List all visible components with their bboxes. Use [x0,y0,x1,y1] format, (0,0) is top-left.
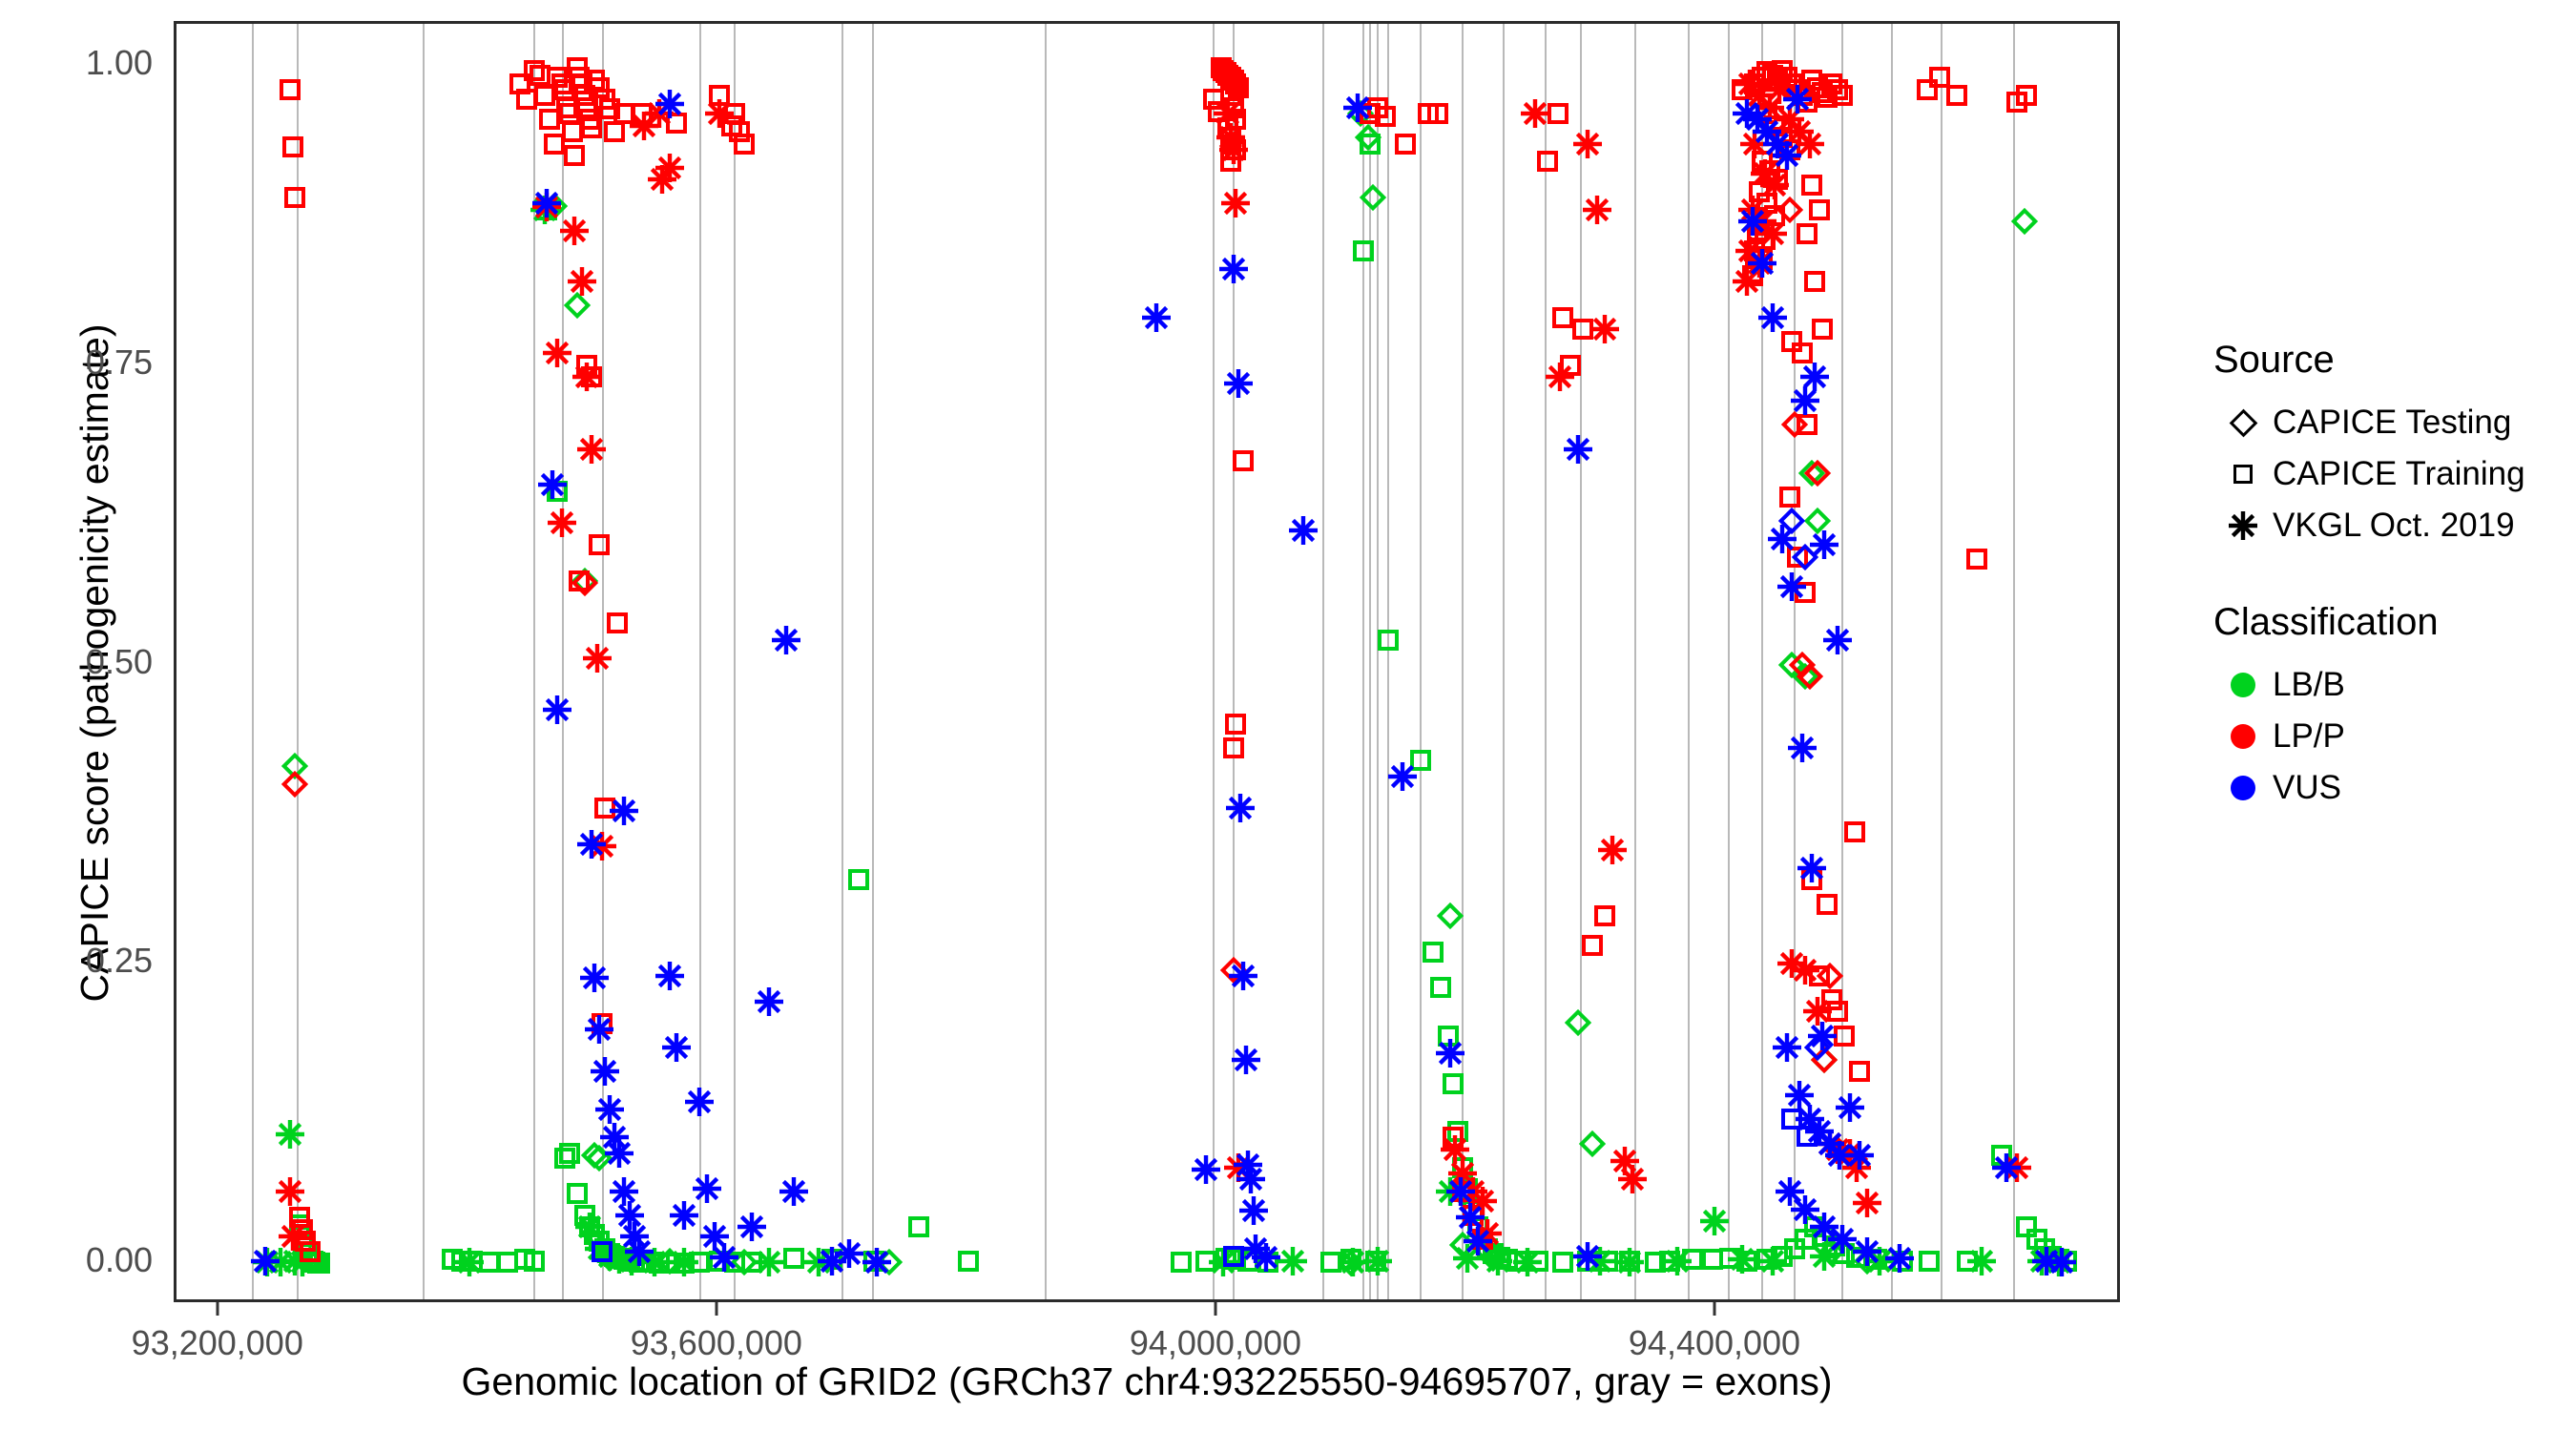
square-marker-icon [1804,271,1825,292]
diamond-marker-icon [655,1247,682,1274]
asterisk-marker-icon [276,1177,304,1206]
y-tick-label: 0.25 [38,941,153,981]
square-marker-icon [554,79,575,100]
square-marker-icon [1797,414,1818,435]
diamond-marker-icon [1803,508,1830,534]
asterisk-marker-icon [1810,1213,1839,1241]
diamond-marker-icon [1579,1130,1606,1156]
asterisk-marker-icon [1740,130,1769,158]
asterisk-marker-icon [1733,267,1761,296]
square-marker-icon [1812,319,1833,340]
square-marker-icon [1560,355,1581,376]
square-marker-icon [607,612,628,633]
exon-line [841,24,843,1299]
asterisk-marker-icon [1586,1247,1614,1275]
asterisk-marker-icon [1853,1237,1881,1266]
x-tick-label: 93,200,000 [132,1323,303,1363]
asterisk-marker-icon [288,1248,317,1276]
square-marker-icon [1779,139,1800,160]
square-marker-icon [509,73,530,94]
square-marker-icon [649,1253,670,1274]
square-marker-icon [581,117,602,138]
square-marker-icon [1395,134,1416,155]
exon-line [1213,24,1215,1299]
asterisk-marker-icon [1615,1248,1644,1276]
square-marker-icon [284,187,305,208]
asterisk-marker-icon [583,644,612,673]
square-marker-icon [1919,1251,1940,1272]
asterisk-marker-icon [1763,130,1792,158]
asterisk-marker-icon [617,1247,646,1275]
square-marker-icon [604,1246,625,1267]
square-marker-icon [1827,79,1848,100]
asterisk-marker-icon [1785,117,1814,146]
square-marker-icon [1472,1229,1493,1250]
square-marker-icon [1736,1251,1757,1272]
y-tick-label: 1.00 [38,43,153,83]
square-marker-icon [2006,92,2027,113]
square-marker-icon [1225,139,1246,160]
square-marker-icon [1572,319,1593,340]
asterisk-marker-icon [1513,1248,1542,1276]
square-marker-icon [297,1243,318,1264]
square-marker-icon [1821,73,1842,94]
square-marker-icon [1844,821,1865,842]
square-marker-icon [1483,1243,1504,1264]
asterisk-marker-icon [1823,1135,1852,1164]
square-marker-icon [1208,101,1229,122]
asterisk-marker-icon [737,1213,766,1241]
diamond-marker-icon [564,292,591,319]
asterisk-icon [2213,511,2273,540]
square-marker-icon [741,1252,762,1273]
asterisk-marker-icon [1777,572,1806,601]
square-marker-icon [1477,1238,1498,1259]
asterisk-marker-icon [532,189,561,218]
legend-item-label: LB/B [2273,666,2345,704]
square-marker-icon [547,481,568,502]
asterisk-marker-icon [543,695,571,724]
diamond-marker-icon [1789,651,1816,677]
legend-item-source[interactable]: CAPICE Training [2213,448,2566,500]
asterisk-marker-icon [1453,1244,1482,1273]
diamond-marker-icon [1803,460,1830,487]
square-marker-icon [589,77,610,98]
square-marker-icon [1747,220,1768,241]
asterisk-marker-icon [1573,1242,1602,1271]
asterisk-marker-icon [1796,1105,1824,1133]
square-marker-icon [451,1251,472,1272]
asterisk-marker-icon [610,1177,638,1206]
asterisk-marker-icon [1836,1093,1864,1122]
x-tick-label: 94,000,000 [1130,1323,1301,1363]
asterisk-marker-icon [655,962,684,990]
square-marker-icon [1817,894,1838,915]
square-marker-icon [289,1207,310,1228]
exon-line [1387,24,1389,1299]
square-marker-icon [1619,1251,1640,1272]
asterisk-marker-icon [568,267,596,296]
square-marker-icon [1552,307,1573,328]
exon-line [1941,24,1942,1299]
diamond-marker-icon [571,570,597,596]
asterisk-marker-icon [1842,1153,1871,1182]
asterisk-marker-icon [1224,1153,1253,1182]
asterisk-marker-icon [1728,1245,1756,1274]
asterisk-marker-icon [585,1015,613,1044]
asterisk-marker-icon [615,1201,644,1230]
asterisk-marker-icon [1765,75,1794,104]
square-marker-icon [1827,1001,1848,1022]
square-marker-icon [567,57,588,78]
square-marker-icon [1582,935,1603,956]
square-marker-icon [1834,1026,1855,1047]
asterisk-marker-icon [1853,1189,1881,1217]
asterisk-marker-icon [1745,249,1774,278]
asterisk-marker-icon [595,1242,624,1271]
diamond-marker-icon [1776,196,1803,222]
square-marker-icon [292,1226,313,1247]
square-marker-icon [2056,1251,2077,1272]
square-marker-icon [1807,77,1828,98]
x-tick-mark [216,1302,218,1316]
exon-line [1377,24,1379,1299]
square-marker-icon [1659,1251,1680,1272]
asterisk-marker-icon [1735,237,1764,265]
square-marker-icon [729,121,750,142]
square-marker-icon [1423,942,1444,963]
asterisk-marker-icon [755,1248,783,1276]
square-marker-icon [908,1216,929,1237]
asterisk-marker-icon [755,987,783,1016]
x-tick-mark [1214,1302,1216,1316]
asterisk-marker-icon [1441,1135,1469,1164]
legend-item-label: CAPICE Training [2273,455,2525,493]
asterisk-marker-icon [1845,1141,1874,1170]
legend-color-dot [2231,724,2255,749]
asterisk-marker-icon [772,626,800,654]
asterisk-marker-icon [1436,1039,1465,1068]
square-marker-icon [1797,223,1818,244]
square-marker-icon [634,1252,654,1273]
square-marker-icon [1756,61,1777,82]
asterisk-marker-icon [1992,1153,2021,1182]
square-marker-icon [594,798,615,819]
square-marker-icon [1917,79,1938,100]
square-marker-icon [1834,1243,1855,1264]
asterisk-marker-icon [591,1057,619,1086]
square-marker-icon [1225,73,1246,94]
square-marker-icon [1801,175,1822,196]
diamond-marker-icon [1798,460,1825,487]
legend-item-label: LP/P [2273,717,2345,756]
exon-line [297,24,299,1299]
square-marker-icon [609,1248,630,1269]
asterisk-marker-icon [532,193,561,221]
asterisk-marker-icon [630,112,658,140]
asterisk-marker-icon [1239,1196,1268,1225]
square-marker-icon [1772,127,1793,148]
asterisk-marker-icon [1226,794,1255,822]
square-marker-icon [514,1249,535,1270]
square-marker-icon [619,1251,640,1272]
square-marker-icon [1762,65,1783,86]
square-marker-icon [1472,1229,1493,1250]
legend-item-classification[interactable]: LP/P [2213,711,2566,762]
legend-source-items: CAPICE TestingCAPICE TrainingVKGL Oct. 2… [2213,397,2566,551]
square-marker-icon [1732,79,1753,100]
legend-item-source[interactable]: CAPICE Testing [2213,397,2566,448]
asterisk-marker-icon [1192,1155,1220,1184]
asterisk-marker-icon [580,964,609,992]
square-marker-icon [1929,67,1950,88]
square-marker-icon [1438,1026,1459,1047]
asterisk-marker-icon [662,1033,691,1062]
square-marker-icon [442,1249,463,1270]
asterisk-marker-icon [1214,99,1242,128]
legend-item-classification[interactable]: LB/B [2213,659,2566,711]
exon-line [1420,24,1422,1299]
square-marker-icon [589,534,610,555]
square-marker-icon [1767,70,1788,91]
asterisk-marker-icon [1967,1247,1996,1275]
exon-line [562,24,564,1299]
square-marker-icon [1812,82,1833,103]
exon-line [2013,24,2015,1299]
square-marker-icon [2048,1249,2069,1270]
square-marker-icon [1365,1251,1386,1272]
asterisk-marker-icon [605,1139,634,1168]
exon-line [1045,24,1047,1299]
asterisk-marker-icon [2047,1248,2076,1276]
square-marker-icon [289,1214,310,1235]
square-marker-icon [734,134,755,155]
square-marker-icon [958,1251,979,1272]
square-marker-icon [1756,103,1777,124]
square-marker-icon [1463,1205,1484,1226]
diamond-marker-icon [281,753,308,779]
square-marker-icon [1702,1249,1723,1270]
asterisk-marker-icon [693,1174,721,1203]
asterisk-marker-icon [1241,1234,1270,1263]
square-marker-icon [848,869,869,890]
asterisk-marker-icon [1865,1247,1894,1275]
exon-line [1462,24,1464,1299]
legend-source-title: Source [2213,339,2566,382]
diamond-marker-icon [571,567,597,593]
asterisk-marker-icon [1142,303,1171,332]
y-tick-label: 0.75 [38,342,153,383]
square-marker-icon [1817,87,1838,108]
asterisk-marker-icon [1700,1207,1729,1235]
square-marker-icon [666,113,687,134]
square-marker-icon [300,1241,321,1262]
square-marker-icon [567,1183,588,1204]
square-marker-icon [1756,1249,1777,1270]
square-marker-icon [1755,229,1776,250]
square-marker-icon [629,1252,650,1273]
asterisk-marker-icon [1743,105,1772,134]
square-marker-icon [1801,70,1822,91]
square-marker-icon [1217,65,1238,86]
square-marker-icon [1892,1251,1913,1272]
asterisk-marker-icon [605,1245,634,1274]
exon-line [252,24,254,1299]
diamond-marker-icon [1797,663,1823,690]
square-marker-icon [1767,169,1788,190]
legend-classification-title: Classification [2213,601,2566,644]
square-marker-icon [1809,965,1830,986]
square-marker-icon [721,115,742,136]
legend-spacer [2213,551,2566,601]
asterisk-marker-icon [1816,1130,1844,1158]
asterisk-marker-icon [1464,1227,1492,1255]
asterisk-marker-icon [1446,1177,1475,1206]
asterisk-marker-icon [1618,1165,1647,1193]
asterisk-marker-icon [1221,189,1250,218]
asterisk-marker-icon [1760,171,1789,199]
square-marker-icon [1507,1251,1528,1272]
square-marker-icon [1795,582,1816,603]
square-marker-icon [1849,1061,1870,1082]
asterisk-marker-icon [1456,1203,1485,1232]
square-marker-icon [1781,73,1802,94]
square-marker-icon [1749,181,1770,202]
square-marker-icon [307,1253,328,1274]
asterisk-marker-icon [251,1247,280,1275]
square-marker-icon [1781,1109,1802,1130]
square-marker-icon [1772,1246,1793,1267]
x-axis-title: Genomic location of GRID2 (GRCh37 chr4:9… [174,1359,2120,1404]
exon-line [1688,24,1690,1299]
diamond-marker-icon [876,1249,903,1275]
diamond-marker-icon [1823,1136,1850,1163]
asterisk-marker-icon [1252,1243,1280,1272]
y-tick-label: 0.50 [38,642,153,682]
asterisk-marker-icon [1289,516,1318,545]
diamond-marker-icon [1811,1047,1838,1073]
asterisk-marker-icon [1810,530,1839,559]
asterisk-marker-icon [560,217,589,245]
asterisk-marker-icon [1776,1177,1804,1206]
square-marker-icon [1797,92,1818,113]
legend-item-classification[interactable]: VUS [2213,762,2566,814]
chart-root: CAPICE score (pathogenicity estimate) 0.… [0,0,2576,1431]
square-marker-icon [2016,85,2037,106]
y-tick-label: 0.00 [38,1240,153,1280]
square-marker-icon [1233,450,1254,471]
asterisk-marker-icon [700,1222,729,1251]
asterisk-marker-icon [1751,159,1779,188]
square-marker-icon [569,570,590,591]
legend-color-dot [2231,776,2255,800]
asterisk-marker-icon [1816,1130,1844,1158]
asterisk-marker-icon [1583,196,1611,224]
asterisk-marker-icon [1768,525,1797,553]
square-marker-icon [574,85,595,106]
square-marker-icon [1340,1249,1361,1270]
asterisk-marker-icon [655,154,684,182]
diamond-marker-icon [1854,1247,1880,1274]
square-marker-icon [2034,1238,2055,1259]
asterisk-marker-icon [280,1247,309,1275]
asterisk-marker-icon [705,99,734,128]
exon-line [533,24,535,1299]
asterisk-marker-icon [625,1237,654,1266]
exon-line [1233,24,1235,1299]
square-marker-icon [1443,1073,1464,1094]
square-icon [2213,465,2273,484]
square-marker-icon [564,145,585,166]
square-marker-icon [1821,989,1842,1010]
legend-color-dot [2231,673,2255,697]
square-marker-icon [1430,977,1451,998]
asterisk-marker-icon [1776,105,1804,134]
asterisk-marker-icon [2003,1153,2031,1182]
asterisk-marker-icon [1216,123,1245,152]
square-marker-icon [1946,85,1967,106]
square-marker-icon [1801,869,1822,890]
square-marker-icon [282,136,303,157]
circle-marker-icon [2213,673,2273,697]
asterisk-marker-icon [1810,1242,1839,1271]
square-marker-icon [594,1238,615,1259]
circle-marker-icon [2213,724,2273,749]
asterisk-marker-icon [1573,130,1602,158]
asterisk-marker-icon [575,1213,604,1241]
square-marker-icon [2016,1216,2037,1237]
asterisk-marker-icon [1777,949,1806,978]
asterisk-marker-icon [1236,1165,1265,1193]
square-marker-icon [1781,331,1802,352]
x-tick-label: 94,400,000 [1629,1323,1800,1363]
square-marker-icon [1804,1216,1825,1237]
square-marker-icon [613,103,634,124]
square-marker-icon [1217,117,1238,138]
diamond-marker-icon [1811,1047,1838,1073]
asterisk-marker-icon [862,1248,891,1276]
asterisk-marker-icon [253,1248,281,1276]
square-marker-icon [1764,115,1785,136]
square-marker-icon [576,97,597,118]
square-marker-icon [1171,1252,1192,1273]
square-marker-icon [1225,1249,1246,1270]
square-marker-icon [1795,1229,1816,1250]
asterisk-marker-icon [595,1095,624,1124]
square-marker-icon [1427,103,1448,124]
asterisk-marker-icon [1343,93,1372,122]
square-marker-icon [556,97,577,118]
square-marker-icon [497,1252,518,1273]
square-marker-icon [674,1253,695,1274]
exon-line [1322,24,1324,1299]
exon-line [1580,24,1582,1299]
asterisk-marker-icon [2045,1248,2073,1276]
square-marker-icon [302,1251,323,1272]
square-marker-icon [1957,1251,1978,1272]
legend-item-source[interactable]: VKGL Oct. 2019 [2213,500,2566,551]
exon-line [423,24,425,1299]
asterisk-marker-icon [1735,70,1764,98]
square-marker-icon [1814,1226,1835,1247]
square-marker-icon [1597,1251,1618,1272]
x-tick-label: 93,600,000 [631,1323,802,1363]
diamond-marker-icon [1778,651,1805,677]
square-marker-icon [579,109,600,130]
diamond-marker-icon [1817,963,1843,989]
x-tick-mark [715,1302,717,1316]
square-marker-icon [571,73,592,94]
